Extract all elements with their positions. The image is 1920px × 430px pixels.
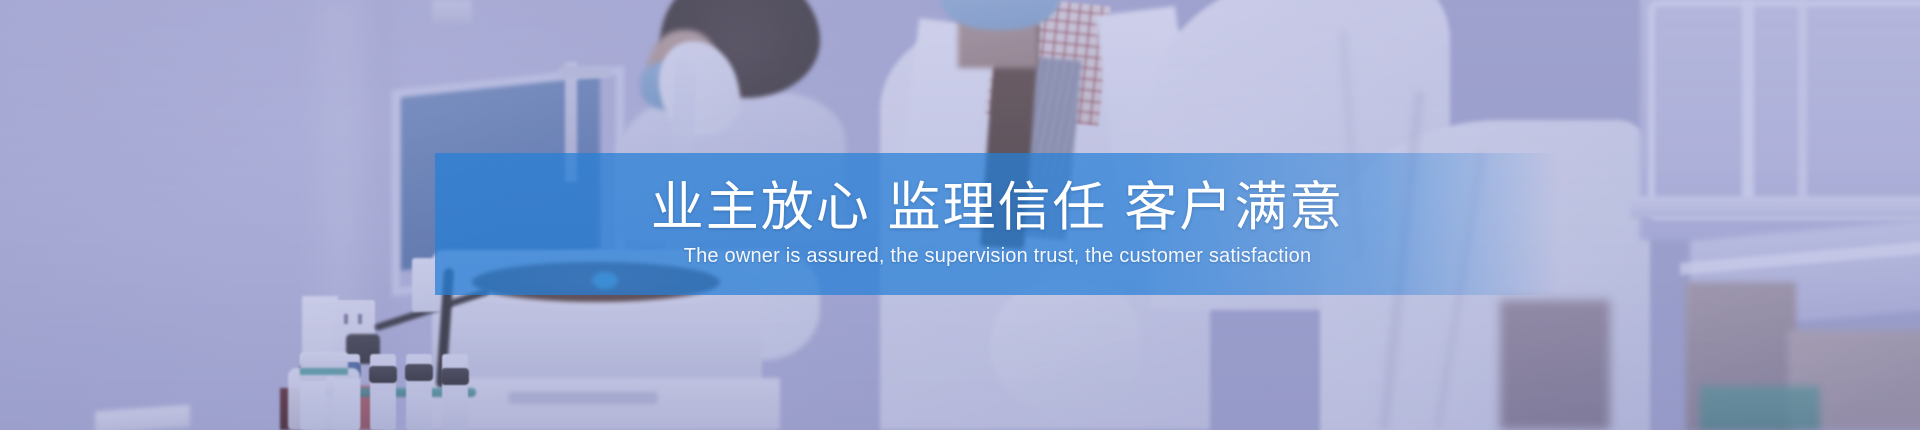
caption-text-group: 业主放心 监理信任 客户满意 The owner is assured, the… bbox=[435, 153, 1560, 295]
banner-subheadline: The owner is assured, the supervision tr… bbox=[684, 244, 1312, 268]
hero-banner: 业主放心 监理信任 客户满意 The owner is assured, the… bbox=[0, 0, 1920, 430]
banner-headline: 业主放心 监理信任 客户满意 bbox=[651, 180, 1344, 236]
